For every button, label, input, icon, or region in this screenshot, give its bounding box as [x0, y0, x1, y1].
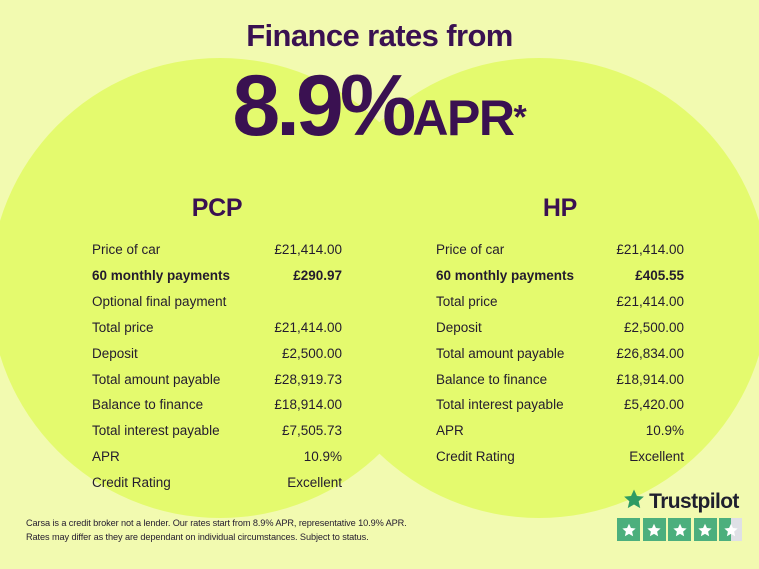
row-value: £290.97 [293, 269, 342, 283]
table-row: Price of car£21,414.00 [92, 237, 342, 263]
table-row: Deposit£2,500.00 [92, 341, 342, 367]
row-label: Balance to finance [436, 373, 547, 387]
row-value: 10.9% [646, 424, 684, 438]
table-row: Price of car£21,414.00 [436, 237, 684, 263]
row-label: Total price [92, 321, 154, 335]
row-label: Deposit [436, 321, 482, 335]
row-value: £26,834.00 [616, 347, 684, 361]
table-row: Total amount payable£28,919.73 [92, 366, 342, 392]
row-value: £21,414.00 [274, 243, 342, 257]
table-row: Balance to finance£18,914.00 [92, 392, 342, 418]
rate-headline: 8.9%APR* [0, 63, 759, 149]
page-title: Finance rates from [0, 20, 759, 51]
row-value: £2,500.00 [282, 347, 342, 361]
table-title-hp: HP [436, 196, 684, 221]
disclaimer-text: Carsa is a credit broker not a lender. O… [26, 516, 446, 545]
table-row: Total amount payable£26,834.00 [436, 341, 684, 367]
finance-rates-poster: Finance rates from 8.9%APR* PCP Price of… [0, 0, 759, 569]
finance-table-hp: HP Price of car£21,414.0060 monthly paym… [436, 196, 684, 470]
row-label: Balance to finance [92, 398, 203, 412]
row-value: £5,420.00 [624, 398, 684, 412]
row-value: £28,919.73 [274, 373, 342, 387]
trustpilot-star-icon [623, 488, 645, 515]
table-row: Deposit£2,500.00 [436, 315, 684, 341]
row-value: £21,414.00 [616, 295, 684, 309]
row-value: Excellent [629, 450, 684, 464]
table-row: Total price£21,414.00 [92, 315, 342, 341]
row-value: 10.9% [304, 450, 342, 464]
table-row: Total interest payable£5,420.00 [436, 392, 684, 418]
table-row: APR10.9% [92, 444, 342, 470]
row-label: Total amount payable [92, 373, 220, 387]
table-row: Balance to finance£18,914.00 [436, 366, 684, 392]
rating-star-icon [643, 518, 666, 541]
row-value: £7,505.73 [282, 424, 342, 438]
row-label: Price of car [436, 243, 504, 257]
row-label: APR [92, 450, 120, 464]
row-label: Deposit [92, 347, 138, 361]
table-row: Optional final payment [92, 289, 342, 315]
row-label: Total interest payable [92, 424, 220, 438]
table-row: Credit RatingExcellent [92, 470, 342, 496]
disclaimer-line-1: Carsa is a credit broker not a lender. O… [26, 516, 446, 530]
row-value: £2,500.00 [624, 321, 684, 335]
row-label: Total amount payable [436, 347, 564, 361]
rating-star-icon [617, 518, 640, 541]
row-value: £18,914.00 [274, 398, 342, 412]
rating-star-icon [668, 518, 691, 541]
row-label: Total price [436, 295, 498, 309]
rate-value: 8.9% [232, 58, 412, 154]
row-label: Credit Rating [436, 450, 515, 464]
row-value: Excellent [287, 476, 342, 490]
table-row: Total interest payable£7,505.73 [92, 418, 342, 444]
trustpilot-name: Trustpilot [649, 491, 739, 512]
table-row: 60 monthly payments£405.55 [436, 263, 684, 289]
trustpilot-wordmark: Trustpilot [617, 489, 745, 513]
poster-content: Finance rates from 8.9%APR* PCP Price of… [0, 0, 759, 569]
finance-table-pcp: PCP Price of car£21,414.0060 monthly pay… [92, 196, 342, 496]
row-value: £21,414.00 [616, 243, 684, 257]
row-label: 60 monthly payments [436, 269, 574, 283]
table-row: Total price£21,414.00 [436, 289, 684, 315]
table-row: APR10.9% [436, 418, 684, 444]
table-rows-hp: Price of car£21,414.0060 monthly payment… [436, 237, 684, 470]
row-value: £21,414.00 [274, 321, 342, 335]
row-label: Credit Rating [92, 476, 171, 490]
table-row: 60 monthly payments£290.97 [92, 263, 342, 289]
rating-star-half-icon [719, 518, 742, 541]
row-value: £18,914.00 [616, 373, 684, 387]
rating-star-icon [694, 518, 717, 541]
row-label: APR [436, 424, 464, 438]
rate-asterisk: * [513, 99, 526, 137]
trustpilot-badge[interactable]: Trustpilot [617, 489, 745, 541]
row-label: Total interest payable [436, 398, 564, 412]
row-value: £405.55 [635, 269, 684, 283]
rate-unit: APR [412, 90, 513, 146]
disclaimer-line-2: Rates may differ as they are dependant o… [26, 530, 446, 544]
table-rows-pcp: Price of car£21,414.0060 monthly payment… [92, 237, 342, 496]
table-title-pcp: PCP [92, 196, 342, 221]
row-label: 60 monthly payments [92, 269, 230, 283]
table-row: Credit RatingExcellent [436, 444, 684, 470]
row-label: Price of car [92, 243, 160, 257]
row-label: Optional final payment [92, 295, 226, 309]
trustpilot-star-rating [617, 518, 745, 541]
